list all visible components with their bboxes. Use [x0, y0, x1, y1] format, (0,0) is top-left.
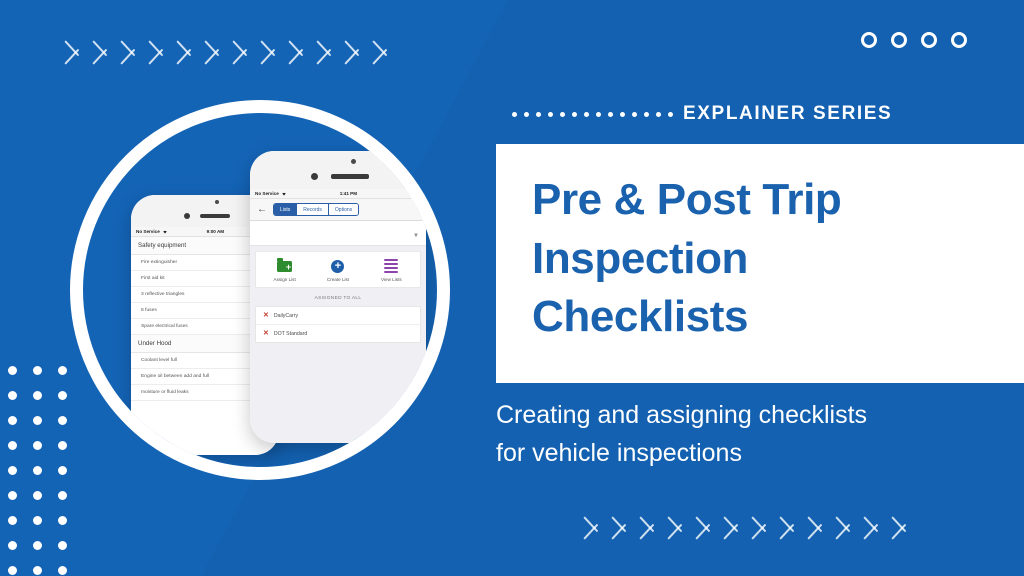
page-title: Pre & Post Trip Inspection Checklists — [496, 144, 1024, 347]
chevron-right-icon — [288, 29, 310, 76]
grid-dot-icon — [8, 416, 17, 425]
eyebrow-dot-icon — [596, 112, 601, 117]
chevron-right-icon — [611, 506, 633, 550]
decor-ring-dots — [861, 32, 967, 48]
grid-dot-icon — [33, 566, 42, 575]
title-line-1: Pre & Post Trip — [532, 175, 841, 224]
decor-chevrons-top — [64, 29, 400, 76]
chevron-right-icon — [891, 506, 913, 550]
eyebrow-dot-icon — [668, 112, 673, 117]
grid-dot-icon — [33, 441, 42, 450]
grid-dot-icon — [33, 541, 42, 550]
eyebrow-dot-icon — [584, 112, 589, 117]
grid-dot-icon — [33, 416, 42, 425]
chevron-right-icon — [176, 29, 198, 76]
phone-mockup-circle: No Service 9:00 AM Safety equipmentFire … — [70, 100, 450, 480]
grid-dot-icon — [33, 516, 42, 525]
chevron-right-icon — [583, 506, 605, 550]
grid-dot-icon — [8, 516, 17, 525]
chevron-right-icon — [260, 29, 282, 76]
chevron-right-icon — [835, 506, 857, 550]
grid-dot-icon — [8, 441, 17, 450]
chevron-right-icon — [344, 29, 366, 76]
grid-dot-icon — [58, 366, 67, 375]
grid-dot-icon — [8, 541, 17, 550]
title-card: Pre & Post Trip Inspection Checklists — [496, 144, 1024, 383]
eyebrow-dot-icon — [536, 112, 541, 117]
chevron-right-icon — [639, 506, 661, 550]
chevron-right-icon — [807, 506, 829, 550]
slide-canvas: No Service 9:00 AM Safety equipmentFire … — [0, 0, 1024, 576]
chevron-right-icon — [695, 506, 717, 550]
eyebrow-dot-icon — [632, 112, 637, 117]
grid-dot-icon — [33, 391, 42, 400]
grid-dot-icon — [8, 366, 17, 375]
chevron-right-icon — [204, 29, 226, 76]
chevron-right-icon — [667, 506, 689, 550]
grid-dot-icon — [8, 491, 17, 500]
grid-dot-icon — [58, 566, 67, 575]
eyebrow-dots — [512, 112, 673, 117]
chevron-right-icon — [779, 506, 801, 550]
ring-dot-icon — [891, 32, 907, 48]
eyebrow-dot-icon — [644, 112, 649, 117]
chevron-right-icon — [92, 29, 114, 76]
ring-dot-icon — [951, 32, 967, 48]
eyebrow-dot-icon — [512, 112, 517, 117]
eyebrow-label: EXPLAINER SERIES — [683, 103, 892, 125]
title-line-2: Inspection — [532, 234, 748, 283]
eyebrow-dot-icon — [524, 112, 529, 117]
eyebrow-dot-icon — [548, 112, 553, 117]
chevron-right-icon — [751, 506, 773, 550]
eyebrow-dot-icon — [656, 112, 661, 117]
decor-chevrons-bottom — [583, 506, 919, 550]
chevron-right-icon — [120, 29, 142, 76]
chevron-right-icon — [64, 29, 86, 76]
eyebrow-dot-icon — [620, 112, 625, 117]
eyebrow: EXPLAINER SERIES — [512, 103, 892, 125]
chevron-right-icon — [372, 29, 394, 76]
subtitle-line-2: for vehicle inspections — [496, 439, 742, 467]
grid-dot-icon — [33, 466, 42, 475]
circle-ring-border — [70, 100, 450, 480]
chevron-right-icon — [316, 29, 338, 76]
grid-dot-icon — [58, 491, 67, 500]
grid-dot-icon — [58, 441, 67, 450]
chevron-right-icon — [863, 506, 885, 550]
eyebrow-dot-icon — [560, 112, 565, 117]
grid-dot-icon — [58, 516, 67, 525]
grid-dot-icon — [8, 391, 17, 400]
grid-dot-icon — [58, 391, 67, 400]
subtitle-line-1: Creating and assigning checklists — [496, 401, 867, 429]
ring-dot-icon — [861, 32, 877, 48]
grid-dot-icon — [8, 566, 17, 575]
chevron-right-icon — [148, 29, 170, 76]
eyebrow-dot-icon — [572, 112, 577, 117]
chevron-right-icon — [723, 506, 745, 550]
grid-dot-icon — [33, 491, 42, 500]
title-line-3: Checklists — [532, 292, 748, 341]
grid-dot-icon — [58, 466, 67, 475]
subtitle: Creating and assigning checklists for ve… — [496, 396, 996, 472]
grid-dot-icon — [58, 416, 67, 425]
grid-dot-icon — [33, 366, 42, 375]
ring-dot-icon — [921, 32, 937, 48]
grid-dot-icon — [8, 466, 17, 475]
eyebrow-dot-icon — [608, 112, 613, 117]
chevron-right-icon — [232, 29, 254, 76]
grid-dot-icon — [58, 541, 67, 550]
